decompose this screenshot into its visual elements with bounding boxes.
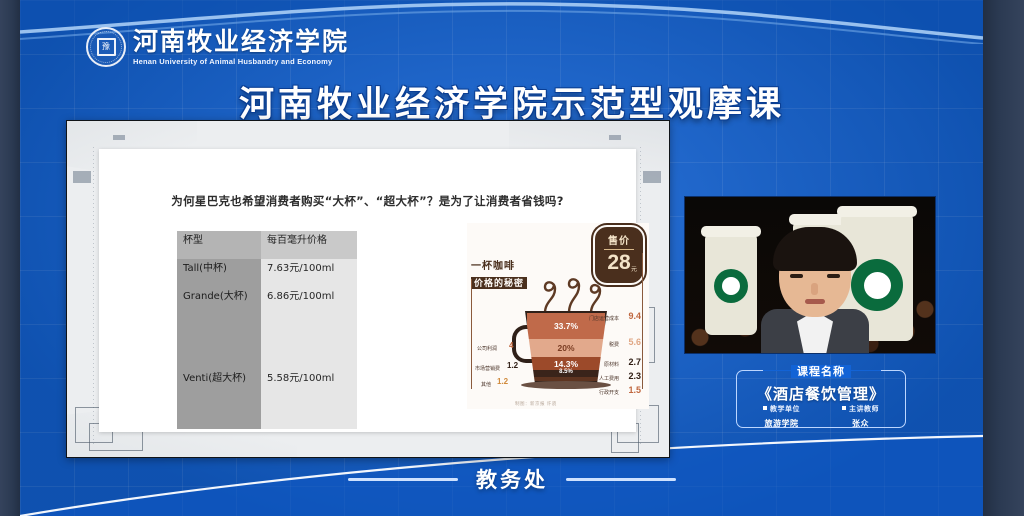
footer-line-left [348,478,458,481]
cell-cup: Tall(中杯) [177,259,261,287]
logo-english-name: Henan University of Animal Husbandry and… [133,58,349,66]
course-unit-key: 教学单位 [742,404,821,414]
layer-1-pct: 33.7% [554,321,578,331]
slide-question: 为何星巴克也希望消费者购买“大杯”、“超大杯”？是为了让消费者省钱吗? [99,193,636,209]
cell-price: 5.58元/100ml [261,369,357,429]
table-header-row: 杯型 每百毫升价格 [177,231,357,259]
logo-chinese-name: 河南牧业经济学院 [133,29,349,54]
right-value-4: 1.5 [628,385,641,395]
cell-price: 6.86元/100ml [261,287,357,369]
left-label-2: 其他 [481,381,491,388]
infographic-title: 一杯咖啡 价格的秘密 [471,261,527,291]
footer-line-right [566,478,676,481]
cell-price: 7.63元/100ml [261,259,357,287]
coffee-cup-chart: 33.7% 20% 14.3% 8.5% [525,311,607,389]
university-seal-icon: 豫 [86,27,126,67]
course-name: 《酒店餐饮管理》 [736,383,906,404]
slide-canvas: 为何星巴克也希望消费者购买“大杯”、“超大杯”？是为了让消费者省钱吗? 杯型 每… [99,149,636,432]
left-value-2: 1.2 [497,377,508,386]
infographic-title-line2: 价格的秘密 [471,277,527,289]
footer-bar: 教务处 [0,464,1024,494]
right-value-2: 2.7 [628,357,641,367]
left-value-1: 1.2 [507,361,518,370]
layer-3-pct: 14.3% [554,359,578,369]
starbucks-logo-icon [714,269,748,303]
presenter-figure [763,233,867,354]
table-row: Grande(大杯) 6.86元/100ml [177,287,357,369]
cup-saucer [521,381,611,389]
infographic-title-line1: 一杯咖啡 [471,261,527,273]
university-logo: 豫 河南牧业经济学院 Henan University of Animal Hu… [86,27,349,67]
layer-2: 20% [527,339,605,357]
bullet-icon [763,406,767,410]
bullet-icon [842,406,846,410]
layer-4: 8.5% [527,370,605,377]
course-info-box: 课程名称 《酒店餐饮管理》 教学单位 旅游学院 主讲教师 张众 [736,370,906,428]
layer-4-pct: 8.5% [559,369,573,375]
right-label-2: 原材料 [604,361,619,368]
right-value-0: 9.4 [628,311,641,321]
badge-unit: 元 [631,264,637,273]
cell-cup: Grande(大杯) [177,287,261,369]
left-label-1: 市场营销费 [475,365,500,372]
course-teacher-key: 主讲教师 [821,404,900,414]
course-teacher: 主讲教师 张众 [821,404,900,429]
table-row: Venti(超大杯) 5.58元/100ml [177,369,357,429]
presentation-slide: 为何星巴克也希望消费者购买“大杯”、“超大杯”？是为了让消费者省钱吗? 杯型 每… [66,120,670,458]
broadcast-stage: 豫 河南牧业经济学院 Henan University of Animal Hu… [0,0,1024,516]
right-letterbox [983,0,1024,516]
infographic-credit: 制图：新京报 许骁 [515,401,557,407]
left-value-0: 4 [509,341,513,350]
right-label-4: 行政开支 [599,389,619,396]
steam-icon [533,267,605,313]
left-label-0: 公司利润 [477,345,497,352]
table-row: Tall(中杯) 7.63元/100ml [177,259,357,287]
right-label-1: 税费 [609,341,619,348]
table-header-price: 每百毫升价格 [261,231,357,259]
course-teacher-value: 张众 [821,418,900,429]
course-unit: 教学单位 旅游学院 [742,404,821,429]
course-label-wrap: 课程名称 [736,362,906,380]
cell-cup: Venti(超大杯) [177,369,261,429]
starbucks-cup-left [705,235,757,335]
right-label-3: 人工费用 [599,375,619,382]
course-label: 课程名称 [791,365,851,378]
coffee-price-infographic: 售价 28 元 一杯咖啡 价格的秘密 [467,223,649,409]
layer-2-pct: 20% [557,343,574,353]
presenter-video-feed[interactable] [684,196,936,354]
right-value-3: 2.3 [628,371,641,381]
right-label-0: 门店运营成本 [589,315,619,322]
right-value-1: 5.6 [628,337,641,347]
badge-label: 售价 [608,237,630,247]
footer-text: 教务处 [476,464,548,494]
course-unit-value: 旅游学院 [742,418,821,429]
price-table: 杯型 每百毫升价格 Tall(中杯) 7.63元/100ml Grande(大杯… [177,231,357,429]
badge-value: 28 [607,252,630,273]
left-letterbox [0,0,20,516]
table-header-cup: 杯型 [177,231,261,259]
